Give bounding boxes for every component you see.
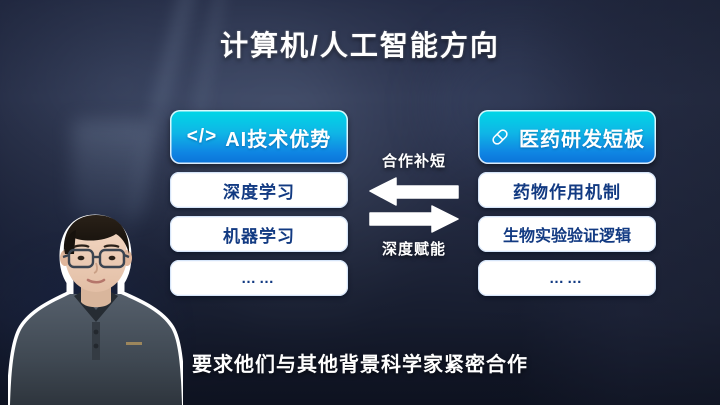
left-column-header-label: AI技术优势 <box>225 123 331 152</box>
right-column: 医药研发短板 药物作用机制 生物实验验证逻辑 …… <box>478 110 656 296</box>
center-top-label: 合作补短 <box>382 150 446 171</box>
code-brackets-icon: </> <box>187 126 217 148</box>
left-column-header[interactable]: </> AI技术优势 <box>170 110 348 164</box>
right-column-header-label: 医药研发短板 <box>519 123 645 152</box>
list-item[interactable]: 生物实验验证逻辑 <box>478 216 656 252</box>
pill-capsule-icon <box>489 126 511 148</box>
list-item[interactable]: …… <box>478 260 656 296</box>
center-bottom-label: 深度赋能 <box>382 238 446 259</box>
presentation-slide: 计算机/人工智能方向 </> AI技术优势 深度学习 机器学习 …… 医药研发短… <box>0 0 720 405</box>
right-column-header[interactable]: 医药研发短板 <box>478 110 656 164</box>
list-item[interactable]: 深度学习 <box>170 172 348 208</box>
list-item[interactable]: 药物作用机制 <box>478 172 656 208</box>
center-exchange-group: 合作补短 深度赋能 <box>354 150 474 259</box>
presenter-cutout <box>8 210 183 405</box>
exchange-arrows-icon <box>366 175 462 235</box>
page-title: 计算机/人工智能方向 <box>0 24 720 64</box>
list-item[interactable]: …… <box>170 260 348 296</box>
left-column: </> AI技术优势 深度学习 机器学习 …… <box>170 110 348 296</box>
list-item[interactable]: 机器学习 <box>170 216 348 252</box>
